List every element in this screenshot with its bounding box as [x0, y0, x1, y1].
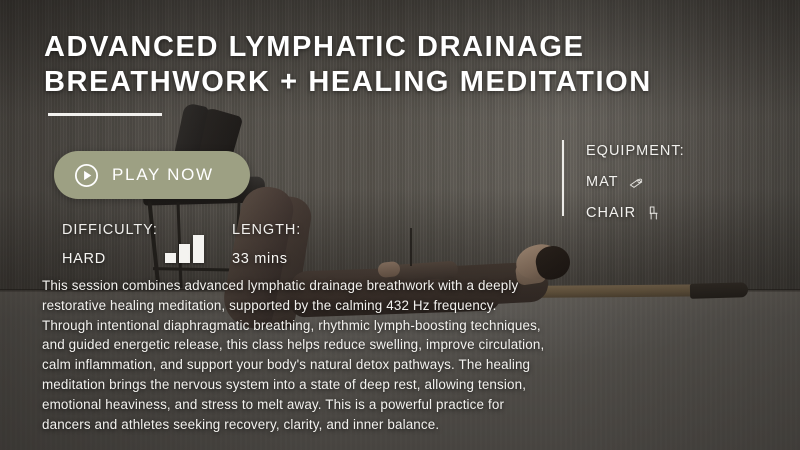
equipment-item-mat-label: MAT [586, 174, 619, 190]
difficulty-label: DIFFICULTY: [62, 222, 158, 238]
difficulty-level-bars-icon [165, 233, 207, 263]
play-circle-icon [74, 163, 99, 188]
equipment-block: EQUIPMENT: MAT CHAIR [586, 143, 685, 221]
level-bar-3 [193, 235, 204, 263]
length-value: 33 mins [232, 251, 301, 267]
play-now-button[interactable]: PLAY NOW [54, 151, 250, 199]
yoga-mat-icon [628, 174, 644, 190]
title-underline-divider [48, 113, 162, 116]
length-block: LENGTH: 33 mins [232, 222, 301, 267]
difficulty-block: DIFFICULTY: HARD [62, 222, 158, 267]
length-label: LENGTH: [232, 222, 301, 238]
equipment-title: EQUIPMENT: [586, 143, 685, 159]
session-description: This session combines advanced lymphatic… [42, 276, 550, 434]
difficulty-value: HARD [62, 251, 158, 267]
level-bar-1 [165, 253, 176, 263]
play-now-label: PLAY NOW [112, 165, 214, 185]
page-title-line-2: BREATHWORK + HEALING MEDITATION [44, 65, 744, 100]
equipment-item-chair: CHAIR [586, 205, 685, 221]
equipment-item-mat: MAT [586, 174, 685, 190]
video-hero-card: ADVANCED LYMPHATIC DRAINAGE BREATHWORK +… [0, 0, 800, 450]
equipment-item-chair-label: CHAIR [586, 205, 636, 221]
equipment-divider [562, 140, 564, 216]
page-title: ADVANCED LYMPHATIC DRAINAGE BREATHWORK +… [44, 30, 744, 100]
page-title-line-1: ADVANCED LYMPHATIC DRAINAGE [44, 30, 744, 65]
level-bar-2 [179, 244, 190, 263]
chair-icon [645, 205, 661, 221]
